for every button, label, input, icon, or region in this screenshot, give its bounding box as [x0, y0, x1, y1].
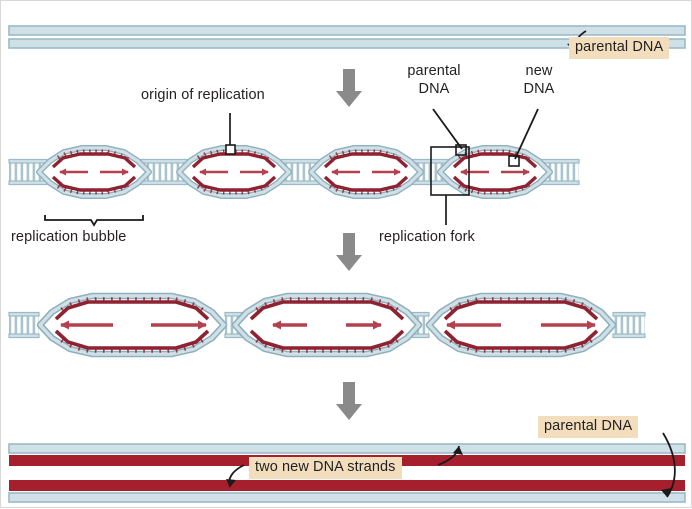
daughter2-new-strand: [9, 480, 685, 491]
daughter1-parental-strand: [9, 444, 685, 453]
label-replication-fork: replication fork: [379, 229, 475, 246]
dna-replication-diagram: parental DNA origin of replication paren…: [1, 1, 692, 509]
replication-bubble-2: [179, 148, 289, 196]
label-origin-of-replication: origin of replication: [141, 87, 265, 104]
parental-strand-top: [9, 26, 685, 35]
stage-early-bubbles: [9, 109, 579, 225]
origin-marker-box: [226, 145, 235, 154]
process-arrow-2: [336, 233, 362, 271]
process-arrow-1: [336, 69, 362, 107]
label-two-new-dna-strands: two new DNA strands: [249, 457, 402, 479]
daughter2-parental-strand: [9, 493, 685, 502]
stage-enlarged-bubbles: [9, 296, 645, 354]
brace-replication-bubble: [45, 215, 143, 225]
label-parental-dna-callout-line1: parental: [389, 63, 479, 80]
replication-bubble-1: [39, 148, 149, 196]
label-replication-bubble: replication bubble: [11, 229, 126, 246]
label-parental-dna-bottom: parental DNA: [538, 416, 638, 438]
label-new-dna-callout-line1: new: [501, 63, 577, 80]
process-arrow-3: [336, 382, 362, 420]
label-parental-dna-callout-line2: DNA: [389, 81, 479, 98]
replication-bubble-3: [311, 148, 421, 196]
label-new-dna-callout-line2: DNA: [501, 81, 577, 98]
label-parental-dna-top: parental DNA: [569, 37, 669, 59]
leader-parental-dna-callout: [433, 109, 462, 149]
enlarged-bubble-2: [235, 296, 419, 354]
